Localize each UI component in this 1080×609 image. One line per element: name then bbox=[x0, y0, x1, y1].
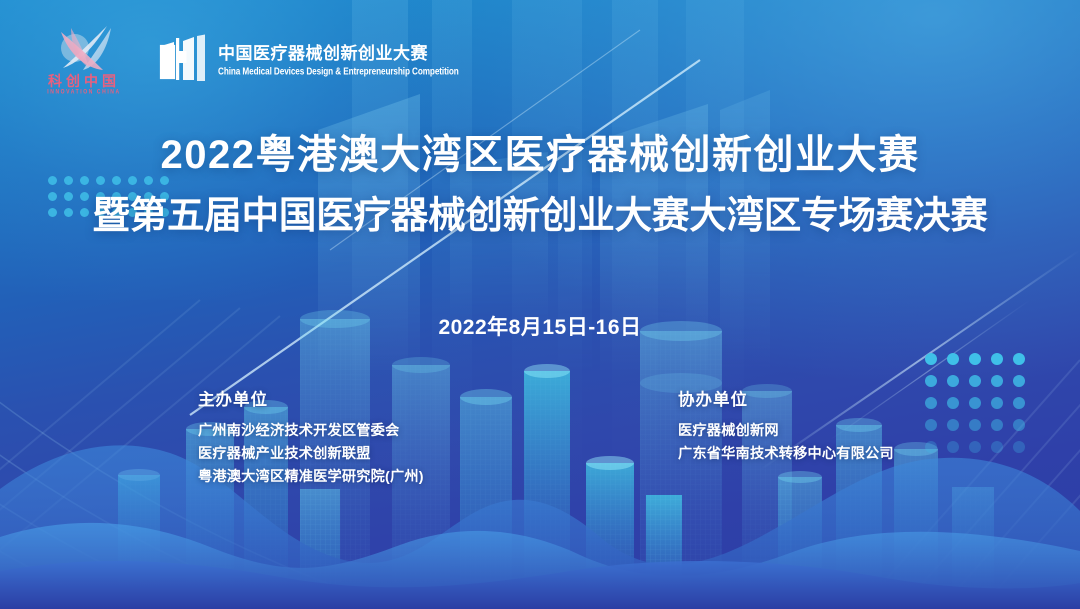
open-door-icon bbox=[158, 34, 208, 84]
dot-grid-right bbox=[925, 353, 1035, 463]
wave-back bbox=[0, 445, 1080, 609]
dot bbox=[1013, 397, 1025, 409]
wave-mid bbox=[0, 523, 1080, 609]
dot bbox=[991, 397, 1003, 409]
event-poster: 科创中国 INNOVATION CHINA bbox=[0, 0, 1080, 609]
co-organizer-line: 医疗器械创新网 bbox=[678, 420, 894, 443]
dot bbox=[1013, 419, 1025, 431]
background-band bbox=[512, 0, 582, 609]
innovation-bird-icon bbox=[45, 24, 123, 72]
innovation-china-logo: 科创中国 INNOVATION CHINA bbox=[36, 24, 132, 95]
host-line: 广州南沙经济技术开发区管委会 bbox=[198, 420, 424, 443]
dot bbox=[925, 397, 937, 409]
dot bbox=[991, 353, 1003, 365]
competition-logo-en: China Medical Devices Design & Entrepren… bbox=[218, 65, 459, 78]
competition-logo: 中国医疗器械创新创业大赛 China Medical Devices Desig… bbox=[158, 34, 459, 84]
dot bbox=[925, 353, 937, 365]
co-organizer-heading: 协办单位 bbox=[678, 386, 894, 410]
dot bbox=[1013, 353, 1025, 365]
dot bbox=[947, 375, 959, 387]
title-line-2: 暨第五届中国医疗器械创新创业大赛大湾区专场赛决赛 bbox=[0, 191, 1080, 240]
dot bbox=[969, 441, 981, 453]
dot bbox=[969, 419, 981, 431]
competition-logo-text: 中国医疗器械创新创业大赛 China Medical Devices Desig… bbox=[218, 43, 459, 76]
dot bbox=[947, 441, 959, 453]
dot bbox=[991, 375, 1003, 387]
dot bbox=[947, 419, 959, 431]
dot bbox=[925, 375, 937, 387]
dot bbox=[947, 353, 959, 365]
wave-front bbox=[0, 561, 1080, 609]
host-heading: 主办单位 bbox=[198, 386, 424, 410]
background-band bbox=[686, 0, 744, 609]
host-line: 医疗器械产业技术创新联盟 bbox=[198, 443, 424, 466]
host-organizers: 主办单位 广州南沙经济技术开发区管委会 医疗器械产业技术创新联盟 粤港澳大湾区精… bbox=[198, 386, 424, 489]
dot bbox=[969, 375, 981, 387]
competition-logo-cn: 中国医疗器械创新创业大赛 bbox=[218, 43, 459, 64]
dot bbox=[1013, 375, 1025, 387]
co-organizers: 协办单位 医疗器械创新网 广东省华南技术转移中心有限公司 bbox=[678, 386, 894, 466]
innovation-logo-cn: 科创中国 bbox=[48, 74, 120, 89]
dot bbox=[925, 441, 937, 453]
dot bbox=[1013, 441, 1025, 453]
host-line: 粤港澳大湾区精准医学研究院(广州) bbox=[198, 466, 424, 489]
wave-shapes bbox=[0, 419, 1080, 609]
page-title: 2022粤港澳大湾区医疗器械创新创业大赛 暨第五届中国医疗器械创新创业大赛大湾区… bbox=[0, 130, 1080, 240]
dot bbox=[991, 441, 1003, 453]
dot bbox=[991, 419, 1003, 431]
dot bbox=[947, 397, 959, 409]
dot bbox=[969, 353, 981, 365]
dot bbox=[925, 419, 937, 431]
event-date: 2022年8月15日-16日 bbox=[0, 311, 1080, 341]
background-band bbox=[612, 0, 658, 609]
title-line-1: 2022粤港澳大湾区医疗器械创新创业大赛 bbox=[0, 130, 1080, 181]
header-logos: 科创中国 INNOVATION CHINA bbox=[36, 24, 459, 95]
innovation-logo-en: INNOVATION CHINA bbox=[47, 88, 120, 96]
co-organizer-line: 广东省华南技术转移中心有限公司 bbox=[678, 443, 894, 466]
dot bbox=[969, 397, 981, 409]
